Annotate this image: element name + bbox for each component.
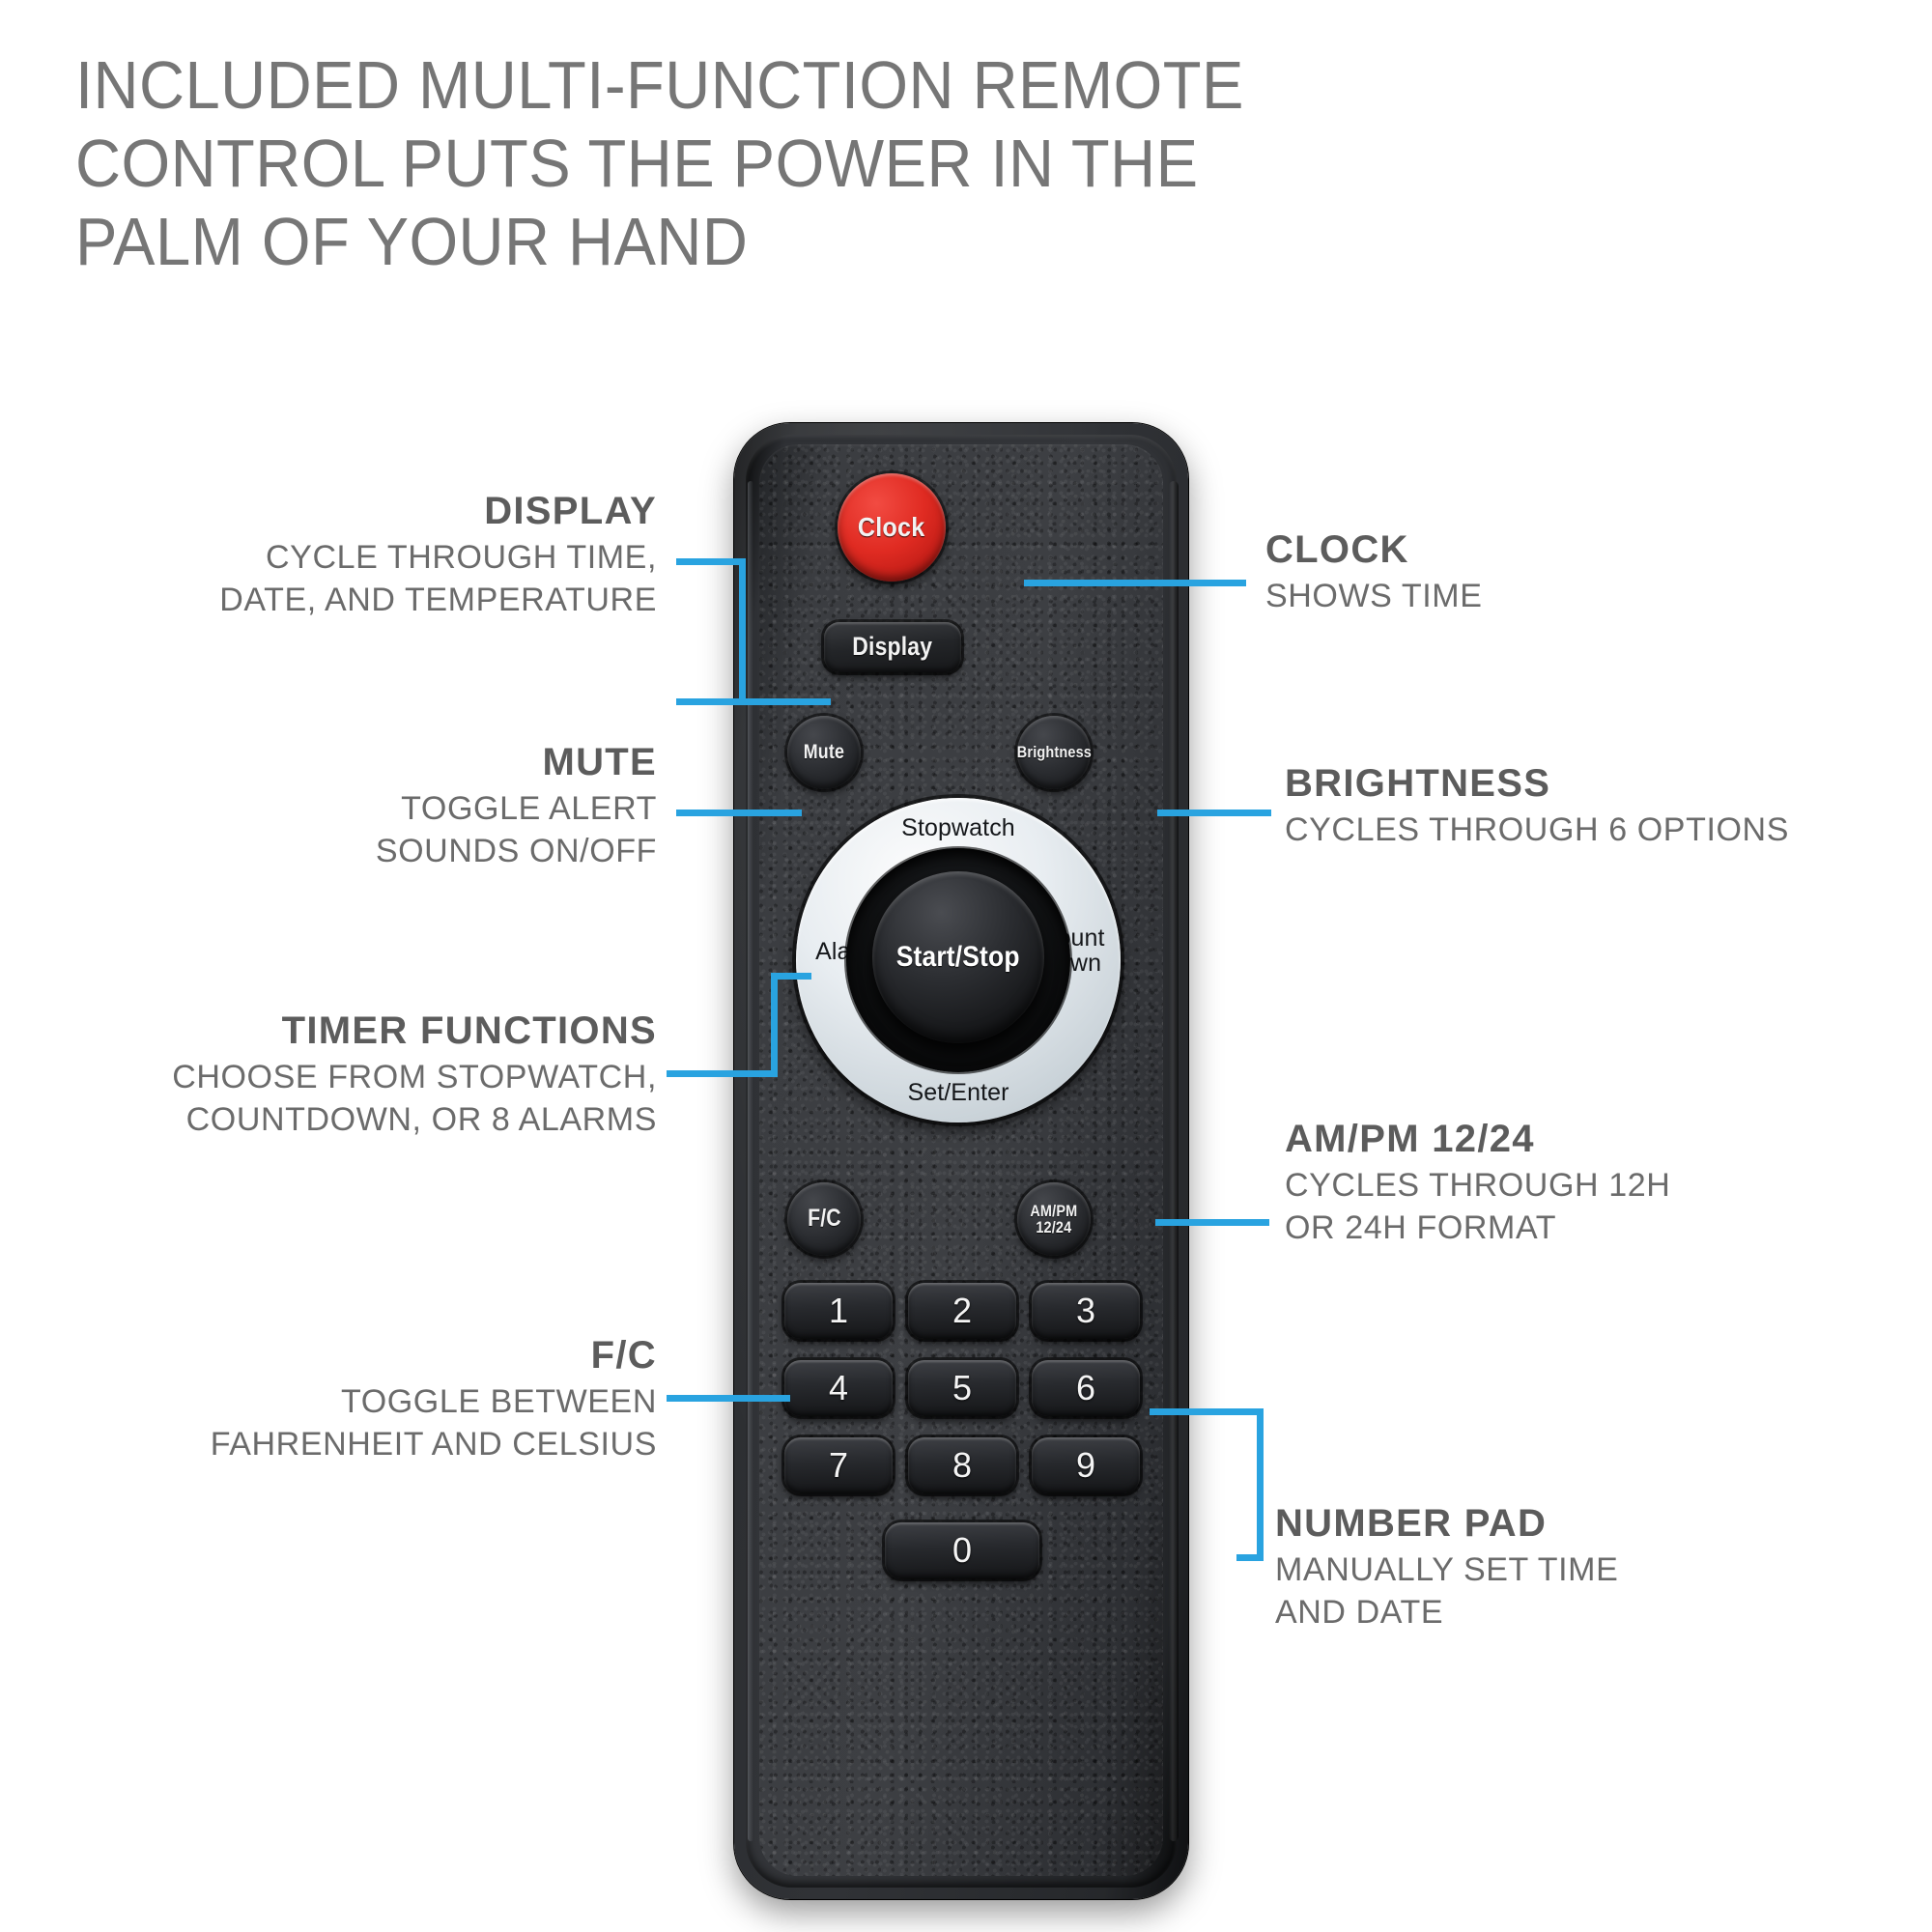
callout-number-pad-title: NUMBER PAD bbox=[1275, 1503, 1874, 1545]
start-stop-button[interactable]: Start/Stop bbox=[872, 871, 1044, 1043]
callout-fc-title: F/C bbox=[135, 1335, 657, 1377]
numpad-key-0[interactable]: 0 bbox=[885, 1522, 1039, 1578]
numpad-key-6[interactable]: 6 bbox=[1032, 1360, 1140, 1416]
numpad-row: 4 5 6 bbox=[784, 1360, 1140, 1416]
callout-clock: CLOCK SHOWS TIME bbox=[1265, 529, 1806, 618]
headline-line-1: INCLUDED MULTI-FUNCTION REMOTE bbox=[75, 46, 1657, 125]
headline-line-2: CONTROL PUTS THE POWER IN THE bbox=[75, 125, 1657, 203]
callout-ampm: AM/PM 12/24 CYCLES THROUGH 12H OR 24H FO… bbox=[1285, 1119, 1884, 1249]
callout-mute-desc: TOGGLE ALERT SOUNDS ON/OFF bbox=[135, 788, 657, 872]
numpad-key-1[interactable]: 1 bbox=[784, 1283, 893, 1339]
mute-button-label: Mute bbox=[804, 742, 844, 762]
ampm-1224-button-label: AM/PM12/24 bbox=[1030, 1203, 1077, 1236]
numpad-key-2[interactable]: 2 bbox=[908, 1283, 1016, 1339]
display-button[interactable]: Display bbox=[824, 622, 961, 672]
callout-timer-functions-title: TIMER FUNCTIONS bbox=[68, 1010, 657, 1052]
leader-brightness bbox=[1157, 810, 1271, 816]
numpad-row: 7 8 9 bbox=[784, 1437, 1140, 1493]
remote-left-edge-highlight bbox=[748, 481, 753, 1841]
start-stop-button-label: Start/Stop bbox=[896, 943, 1020, 973]
ring-label-set-enter[interactable]: Set/Enter bbox=[796, 1080, 1121, 1105]
remote-right-edge-shadow bbox=[1169, 481, 1179, 1841]
remote-control-body: Clock Display Mute Brightness Stopwatch … bbox=[734, 423, 1188, 1899]
callout-brightness-title: BRIGHTNESS bbox=[1285, 763, 1884, 805]
mute-button[interactable]: Mute bbox=[787, 716, 861, 789]
leader-fc bbox=[667, 1395, 790, 1402]
leader-display-h1 bbox=[676, 558, 746, 565]
leader-numpad-v bbox=[1257, 1408, 1264, 1561]
callout-ampm-desc: CYCLES THROUGH 12H OR 24H FORMAT bbox=[1285, 1165, 1884, 1249]
brightness-button-label: Brightness bbox=[1016, 744, 1091, 760]
callout-brightness: BRIGHTNESS CYCLES THROUGH 6 OPTIONS bbox=[1285, 763, 1884, 852]
numpad-key-3[interactable]: 3 bbox=[1032, 1283, 1140, 1339]
callout-fc: F/C TOGGLE BETWEEN FAHRENHEIT AND CELSIU… bbox=[135, 1335, 657, 1465]
leader-timer-h1 bbox=[667, 1070, 778, 1077]
callout-timer-functions-desc: CHOOSE FROM STOPWATCH, COUNTDOWN, OR 8 A… bbox=[68, 1057, 657, 1141]
numpad-key-4[interactable]: 4 bbox=[784, 1360, 893, 1416]
callout-number-pad-desc: MANUALLY SET TIME AND DATE bbox=[1275, 1549, 1874, 1634]
callout-clock-title: CLOCK bbox=[1265, 529, 1806, 571]
leader-timer-h2 bbox=[771, 973, 811, 980]
clock-button-label: Clock bbox=[858, 514, 925, 542]
callout-brightness-desc: CYCLES THROUGH 6 OPTIONS bbox=[1285, 810, 1884, 852]
callout-ampm-title: AM/PM 12/24 bbox=[1285, 1119, 1884, 1160]
callout-display-title: DISPLAY bbox=[116, 491, 657, 532]
numpad-key-9[interactable]: 9 bbox=[1032, 1437, 1140, 1493]
fahrenheit-celsius-button[interactable]: F/C bbox=[787, 1182, 861, 1256]
fahrenheit-celsius-button-label: F/C bbox=[808, 1207, 841, 1232]
ring-label-stopwatch[interactable]: Stopwatch bbox=[796, 815, 1121, 840]
numpad-key-5[interactable]: 5 bbox=[908, 1360, 1016, 1416]
callout-fc-desc: TOGGLE BETWEEN FAHRENHEIT AND CELSIUS bbox=[135, 1381, 657, 1465]
numpad-row: 1 2 3 bbox=[784, 1283, 1140, 1339]
number-pad: 1 2 3 4 5 6 7 8 9 0 bbox=[784, 1283, 1140, 1600]
callout-timer-functions: TIMER FUNCTIONS CHOOSE FROM STOPWATCH, C… bbox=[68, 1010, 657, 1141]
leader-display-h2 bbox=[676, 698, 831, 705]
remote-face bbox=[759, 444, 1163, 1876]
numpad-row: 0 bbox=[784, 1515, 1140, 1578]
callout-display: DISPLAY CYCLE THROUGH TIME, DATE, AND TE… bbox=[116, 491, 657, 621]
leader-display-v bbox=[739, 558, 746, 705]
ampm-1224-button[interactable]: AM/PM12/24 bbox=[1017, 1182, 1091, 1256]
callout-number-pad: NUMBER PAD MANUALLY SET TIME AND DATE bbox=[1275, 1503, 1874, 1634]
ring-center-well: Start/Stop bbox=[846, 848, 1070, 1072]
timer-function-ring[interactable]: Stopwatch Alarm Countdown Set/Enter Star… bbox=[796, 798, 1121, 1122]
brightness-button[interactable]: Brightness bbox=[1017, 716, 1091, 789]
leader-ampm bbox=[1155, 1219, 1269, 1226]
leader-mute bbox=[676, 810, 802, 816]
callout-mute-title: MUTE bbox=[135, 742, 657, 783]
leader-numpad-h2 bbox=[1236, 1554, 1264, 1561]
headline-line-3: PALM OF YOUR HAND bbox=[75, 203, 1657, 281]
numpad-key-8[interactable]: 8 bbox=[908, 1437, 1016, 1493]
numpad-key-7[interactable]: 7 bbox=[784, 1437, 893, 1493]
leader-numpad-h1 bbox=[1150, 1408, 1264, 1415]
leader-timer-v bbox=[771, 973, 778, 1077]
display-button-label: Display bbox=[853, 634, 933, 661]
callout-display-desc: CYCLE THROUGH TIME, DATE, AND TEMPERATUR… bbox=[116, 537, 657, 621]
callout-clock-desc: SHOWS TIME bbox=[1265, 576, 1806, 618]
leader-clock bbox=[1024, 580, 1246, 586]
page-title: INCLUDED MULTI-FUNCTION REMOTE CONTROL P… bbox=[75, 46, 1657, 282]
callout-mute: MUTE TOGGLE ALERT SOUNDS ON/OFF bbox=[135, 742, 657, 872]
clock-button[interactable]: Clock bbox=[838, 473, 946, 582]
